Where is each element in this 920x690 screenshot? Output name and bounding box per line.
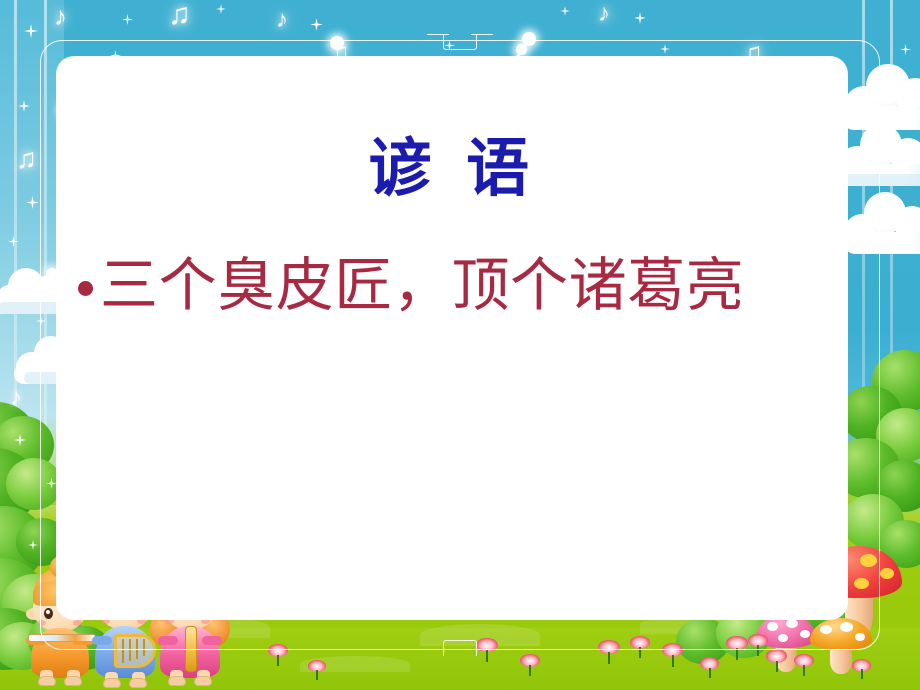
- frame-notch-bottom: [443, 640, 477, 656]
- flower: [476, 638, 498, 662]
- music-note-icon: ♪: [10, 386, 22, 410]
- music-note-icon: ♫: [16, 146, 37, 174]
- flower: [726, 636, 748, 660]
- clarinet-icon: [185, 626, 197, 672]
- harp-icon: [114, 634, 156, 668]
- music-note-icon: ♪: [276, 8, 288, 32]
- flower: [700, 657, 719, 678]
- cloud-right-lower: [844, 188, 920, 258]
- cloud-right-mid: [838, 118, 920, 190]
- flower: [766, 649, 787, 672]
- flute-icon: [28, 634, 96, 642]
- music-note-icon: ♫: [168, 0, 191, 30]
- flower: [794, 654, 814, 676]
- music-note-icon: ♪: [54, 4, 67, 30]
- slide-title: 谚 语: [56, 118, 848, 209]
- flower: [630, 636, 650, 658]
- presentation-slide: ♪ ♫ ♪ ♫ ♪ ♫ ♪ ♫ ♪ 谚 语 三个臭皮匠，顶个诸葛亮: [0, 0, 920, 690]
- flower: [852, 659, 871, 680]
- bullet-marker-icon: [78, 281, 93, 296]
- bullet-list-item: 三个臭皮匠，顶个诸葛亮: [78, 252, 838, 319]
- flower: [748, 634, 768, 656]
- sparkle-glow: [330, 36, 344, 50]
- slide-content-panel: 谚 语 三个臭皮匠，顶个诸葛亮: [56, 56, 848, 620]
- flower: [520, 654, 540, 676]
- sparkle-glow: [516, 44, 527, 55]
- frame-notch-top: [443, 34, 477, 50]
- music-note-icon: ♪: [598, 2, 610, 26]
- flower: [598, 640, 620, 664]
- flower: [268, 644, 288, 666]
- bullet-text: 三个臭皮匠，顶个诸葛亮: [100, 252, 744, 319]
- flower: [662, 643, 683, 666]
- flower: [308, 660, 326, 680]
